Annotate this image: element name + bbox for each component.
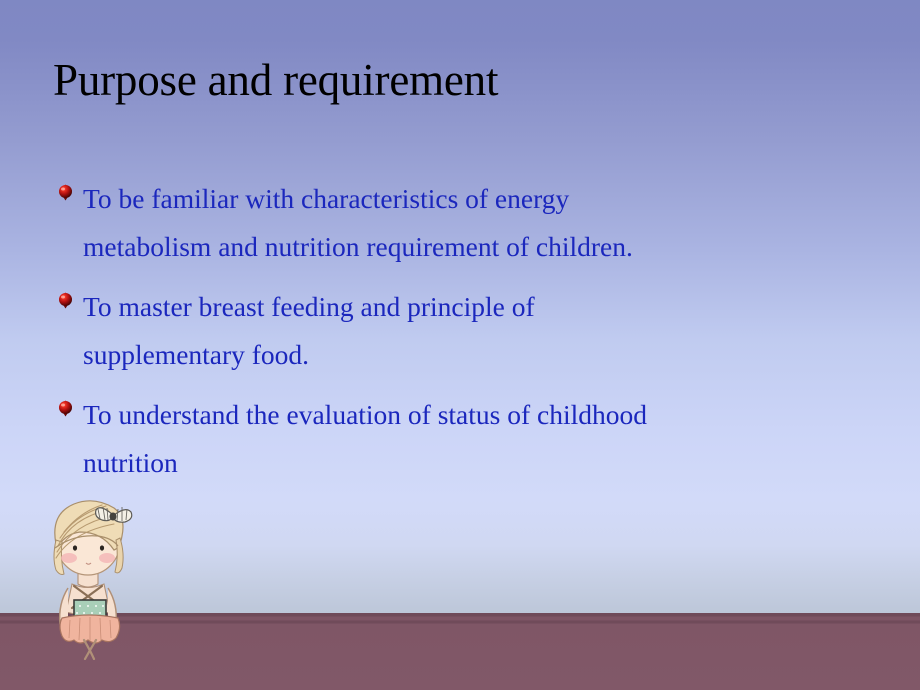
bullet-text: To master breast feeding and principle o…	[83, 283, 857, 379]
bullet-line: metabolism and nutrition requirement of …	[83, 223, 857, 271]
bullet-text: To be familiar with characteristics of e…	[83, 175, 857, 271]
bullet-item: To master breast feeding and principle o…	[57, 283, 857, 379]
bullet-item: To be familiar with characteristics of e…	[57, 175, 857, 271]
bullet-line: supplementary food.	[83, 331, 857, 379]
bullet-line: To be familiar with characteristics of e…	[83, 175, 857, 223]
bullet-list: To be familiar with characteristics of e…	[57, 175, 857, 499]
red-gem-bullet-icon	[57, 292, 74, 309]
bullet-line: nutrition	[83, 439, 857, 487]
bullet-line: To master breast feeding and principle o…	[83, 283, 857, 331]
red-gem-bullet-icon	[57, 400, 74, 417]
slide-title: Purpose and requirement	[53, 57, 498, 104]
cartoon-girl-illustration	[32, 492, 150, 660]
bullet-line: To understand the evaluation of status o…	[83, 391, 857, 439]
red-gem-bullet-icon	[57, 184, 74, 201]
bullet-item: To understand the evaluation of status o…	[57, 391, 857, 487]
presentation-slide: Purpose and requirement	[0, 0, 920, 690]
bullet-text: To understand the evaluation of status o…	[83, 391, 857, 487]
